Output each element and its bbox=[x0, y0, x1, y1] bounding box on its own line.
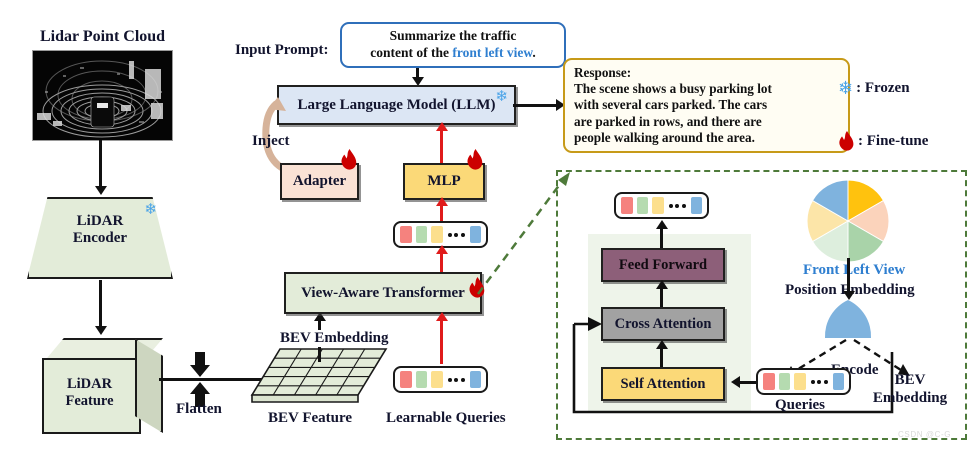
learnable-queries-strip bbox=[393, 366, 488, 393]
token-red bbox=[400, 226, 412, 243]
point-cloud-title: Lidar Point Cloud bbox=[40, 28, 165, 46]
arrow-head-queries-to-transformer bbox=[436, 312, 448, 321]
token-yellow bbox=[652, 197, 664, 214]
bev-feature-label: BEV Feature bbox=[268, 410, 352, 427]
flame-icon bbox=[340, 149, 357, 170]
watermark: CSDN @C-G bbox=[898, 430, 951, 439]
inject-label: Inject bbox=[252, 133, 290, 150]
detail-queries-label: Queries bbox=[775, 397, 825, 414]
token-red bbox=[763, 373, 775, 390]
arrow-pie-to-fan bbox=[847, 258, 850, 293]
detail-output-token-strip bbox=[614, 192, 709, 219]
response-line-4: people walking around the area. bbox=[574, 130, 839, 146]
detail-bev-embedding-line-1: BEV bbox=[895, 371, 926, 389]
prompt-line-2: content of the front left view. bbox=[350, 45, 556, 62]
view-pie-chart bbox=[805, 178, 891, 264]
arrow-mlp-to-llm bbox=[440, 130, 443, 163]
detail-queries-strip bbox=[756, 368, 851, 395]
arrow-head-mlp-to-llm bbox=[436, 122, 448, 131]
prompt-line-2-post: . bbox=[532, 45, 535, 60]
token-red bbox=[400, 371, 412, 388]
arrow-llm-to-response bbox=[513, 104, 561, 107]
flatten-label: Flatten bbox=[176, 401, 222, 418]
token-yellow bbox=[431, 371, 443, 388]
token-green bbox=[779, 373, 791, 390]
input-prompt-bubble[interactable]: Summarize the traffic content of the fro… bbox=[340, 22, 566, 68]
token-ellipsis-icon bbox=[668, 204, 687, 208]
lidar-feature-label-2: Feature bbox=[65, 393, 113, 410]
response-line-3: are parked in rows, and there are bbox=[574, 114, 839, 130]
detail-bev-embedding-label: BEV Embedding bbox=[860, 371, 960, 407]
token-ellipsis-icon bbox=[447, 233, 466, 237]
lidar-encoder-label-1: LiDAR bbox=[77, 213, 124, 230]
arrow-head-tokens-to-mlp bbox=[436, 197, 448, 206]
arrow-head-pointcloud-to-encoder bbox=[95, 186, 107, 195]
view-name-label: Front Left View bbox=[803, 262, 905, 279]
view-aware-transformer-label: View-Aware Transformer bbox=[301, 285, 465, 302]
feed-forward-label: Feed Forward bbox=[619, 257, 707, 274]
token-ellipsis-icon bbox=[447, 378, 466, 382]
lidar-point-cloud-image bbox=[32, 50, 173, 141]
legend-frozen: ❄ : Frozen bbox=[838, 79, 910, 97]
snowflake-icon: ❄ bbox=[495, 90, 508, 105]
token-ellipsis-icon bbox=[810, 380, 829, 384]
flatten-arrow-down bbox=[190, 352, 210, 377]
token-yellow bbox=[794, 373, 806, 390]
bev-embedding-label: BEV Embedding bbox=[279, 330, 390, 347]
input-prompt-label: Input Prompt: bbox=[235, 42, 329, 59]
token-yellow bbox=[431, 226, 443, 243]
arrow-encoder-to-feature bbox=[99, 280, 102, 328]
token-green bbox=[416, 371, 428, 388]
response-bubble: Response: The scene shows a busy parking… bbox=[563, 58, 850, 153]
arrow-head-encoder-to-feature bbox=[95, 326, 107, 335]
token-red bbox=[621, 197, 633, 214]
token-blue bbox=[691, 197, 703, 214]
snowflake-icon: ❄ bbox=[838, 79, 853, 97]
response-line-2: with several cars parked. The cars bbox=[574, 97, 839, 113]
prompt-view-highlight: front left view bbox=[452, 45, 532, 60]
lidar-feature-label-1: LiDAR bbox=[67, 376, 112, 393]
prompt-line-2-pre: content of the bbox=[370, 45, 452, 60]
token-blue bbox=[833, 373, 845, 390]
legend-finetune: : Fine-tune bbox=[838, 131, 928, 151]
arrow-transformer-to-tokens bbox=[440, 252, 443, 274]
learnable-queries-label: Learnable Queries bbox=[386, 410, 506, 427]
arrow-head-ff-to-output bbox=[656, 220, 668, 229]
response-heading: Response: bbox=[574, 65, 839, 81]
token-green bbox=[637, 197, 649, 214]
feed-forward-box[interactable]: Feed Forward bbox=[601, 248, 725, 282]
arrow-queries-to-transformer bbox=[440, 320, 443, 364]
adapter-label: Adapter bbox=[293, 173, 346, 190]
detail-bev-embedding-line-2: Embedding bbox=[873, 389, 947, 407]
lidar-encoder: LiDAR Encoder ❄ bbox=[27, 197, 173, 279]
lidar-feature-cube: LiDAR Feature bbox=[42, 338, 159, 430]
lidar-encoder-label-2: Encoder bbox=[73, 230, 127, 247]
arrow-head-ca-to-ff bbox=[656, 280, 668, 289]
prompt-line-1: Summarize the traffic bbox=[350, 28, 556, 45]
legend-finetune-label: : Fine-tune bbox=[858, 133, 928, 150]
arrow-head-transformer-to-tokens bbox=[436, 245, 448, 254]
view-fov-wedge-icon bbox=[822, 300, 874, 340]
response-line-1: The scene shows a busy parking lot bbox=[574, 81, 839, 97]
arrow-pointcloud-to-encoder bbox=[99, 140, 102, 188]
token-blue bbox=[470, 371, 482, 388]
legend-frozen-label: : Frozen bbox=[856, 80, 909, 97]
llm-label: Large Language Model (LLM) bbox=[298, 97, 496, 114]
flame-icon bbox=[466, 149, 483, 170]
mlp-label: MLP bbox=[427, 173, 460, 190]
view-aware-transformer-box[interactable]: View-Aware Transformer bbox=[284, 272, 482, 314]
flame-icon bbox=[838, 131, 854, 151]
snowflake-icon: ❄ bbox=[144, 203, 157, 218]
token-green bbox=[416, 226, 428, 243]
arrow-head-pie-to-fan bbox=[843, 291, 855, 300]
